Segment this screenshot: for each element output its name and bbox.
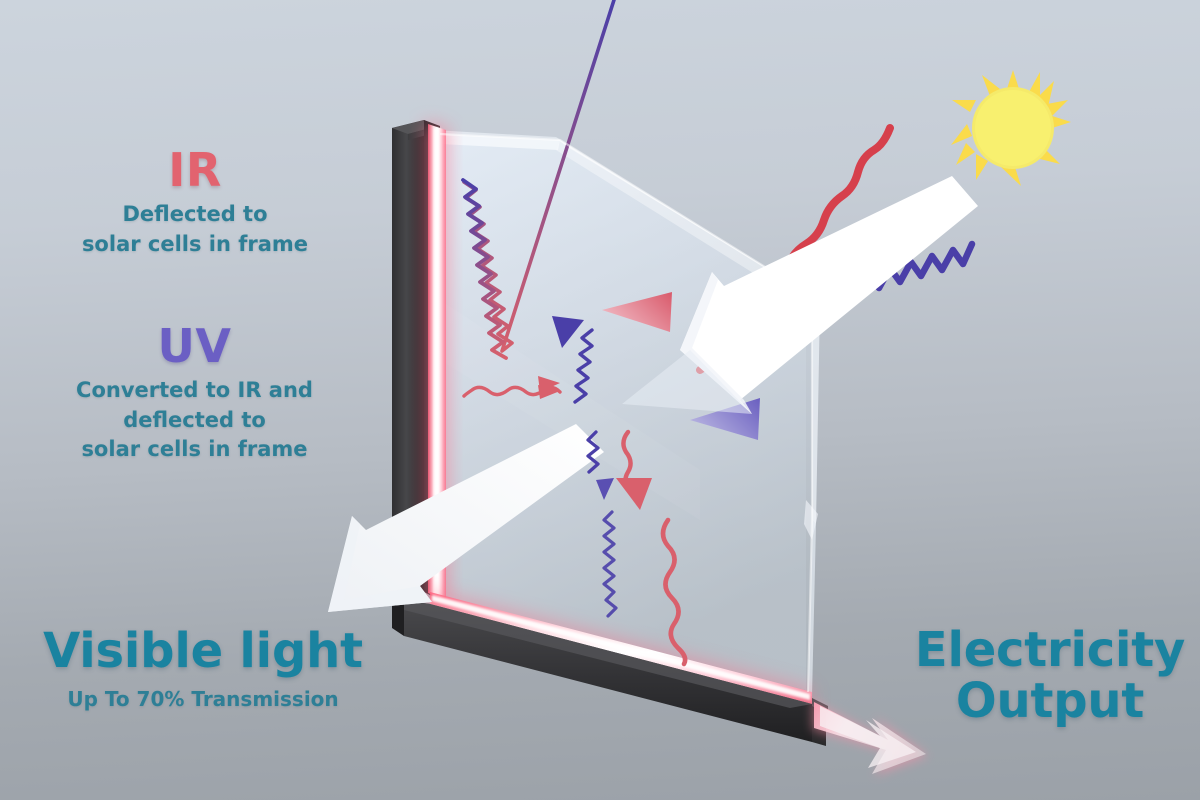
uv-line-1: Converted to IR and <box>32 378 357 404</box>
uv-label-block: UV Converted to IR and deflected to sola… <box>32 318 357 463</box>
ir-heading: IR <box>40 142 350 198</box>
electricity-line-2: Output <box>905 676 1195 727</box>
uv-heading: UV <box>32 318 357 374</box>
uv-line-2: deflected to <box>32 408 357 434</box>
uv-line-3: solar cells in frame <box>32 437 357 463</box>
visible-light-heading: Visible light <box>8 622 398 681</box>
electricity-output-label-block: Electricity Output <box>905 625 1195 727</box>
electricity-line-1: Electricity <box>905 625 1195 676</box>
ir-label-block: IR Deflected to solar cells in frame <box>40 142 350 257</box>
visible-light-transmission: Up To 70% Transmission <box>8 687 398 711</box>
visible-light-label-block: Visible light Up To 70% Transmission <box>8 622 398 711</box>
ir-line-2: solar cells in frame <box>40 232 350 258</box>
diagram-root: IR Deflected to solar cells in frame UV … <box>0 0 1200 800</box>
sun-icon <box>951 70 1071 186</box>
ir-line-1: Deflected to <box>40 202 350 228</box>
